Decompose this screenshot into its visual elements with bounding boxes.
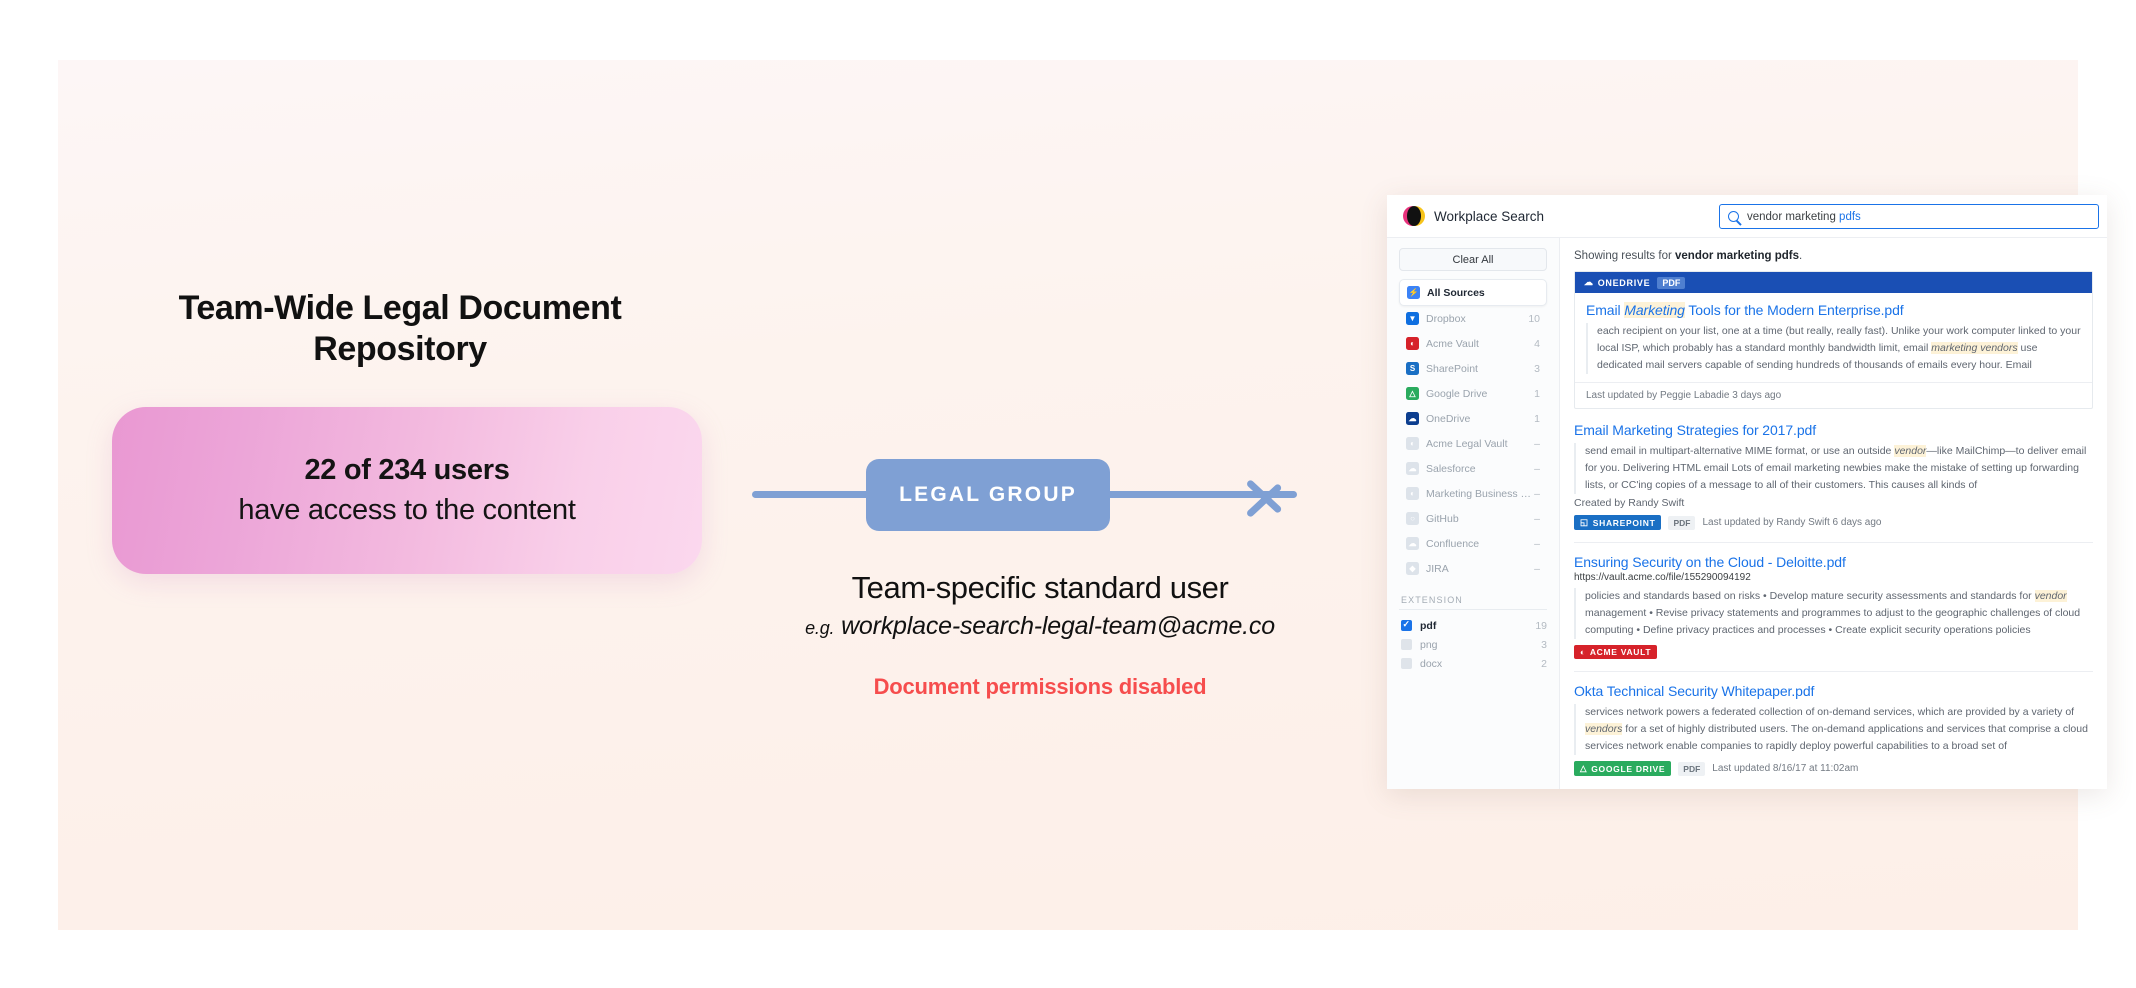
confluence-icon: ☁ bbox=[1406, 537, 1419, 550]
result-item[interactable]: Email Marketing Strategies for 2017.pdfs… bbox=[1574, 422, 2093, 530]
source-filter-list: ⚡All Sources▼Dropbox10◐Acme Vault4SShare… bbox=[1399, 279, 1547, 581]
source-count: – bbox=[1534, 488, 1540, 500]
legal-group-chip: LEGAL GROUP bbox=[866, 459, 1110, 531]
result-snippet: policies and standards based on risks • … bbox=[1574, 588, 2093, 639]
result-url: https://vault.acme.co/file/155290094192 bbox=[1574, 572, 2093, 583]
source-filter-dropbox[interactable]: ▼Dropbox10 bbox=[1399, 306, 1547, 331]
access-count: 22 of 234 users bbox=[304, 454, 509, 487]
result-title[interactable]: Ensuring Security on the Cloud - Deloitt… bbox=[1574, 554, 2093, 570]
showing-results-text: Showing results for vendor marketing pdf… bbox=[1574, 250, 2093, 262]
result-body: Email Marketing Tools for the Modern Ent… bbox=[1575, 293, 2092, 382]
result-source-label: ONEDRIVE bbox=[1598, 278, 1651, 288]
source-count: – bbox=[1534, 438, 1540, 450]
extension-filter-png[interactable]: png3 bbox=[1399, 635, 1547, 654]
source-label: Google Drive bbox=[1426, 388, 1534, 400]
clear-all-button[interactable]: Clear All bbox=[1399, 248, 1547, 271]
source-count: – bbox=[1534, 463, 1540, 475]
source-count: 1 bbox=[1534, 388, 1540, 400]
arrow-head-icon bbox=[1248, 468, 1288, 522]
jira-icon: ◆ bbox=[1406, 562, 1419, 575]
source-count: 1 bbox=[1534, 413, 1540, 425]
acme-legal-vault-icon: ◐ bbox=[1406, 437, 1419, 450]
github-icon: ○ bbox=[1406, 512, 1419, 525]
result-source-bar: ☁ONEDRIVEPDF bbox=[1575, 272, 2092, 293]
source-filter-acme-vault[interactable]: ◐Acme Vault4 bbox=[1399, 331, 1547, 356]
access-stat-card: 22 of 234 users have access to the conte… bbox=[112, 407, 702, 574]
showing-suffix: . bbox=[1799, 250, 1802, 262]
results-pane: Showing results for vendor marketing pdf… bbox=[1560, 238, 2107, 789]
result-divider bbox=[1574, 671, 2093, 672]
sharepoint-icon: S bbox=[1406, 362, 1419, 375]
onedrive-icon: ☁ONEDRIVE bbox=[1584, 277, 1650, 288]
extension-divider bbox=[1399, 609, 1547, 610]
source-count: 10 bbox=[1528, 313, 1540, 325]
result-card-featured[interactable]: ☁ONEDRIVEPDFEmail Marketing Tools for th… bbox=[1574, 271, 2093, 409]
workplace-search-logo-icon bbox=[1403, 206, 1425, 226]
google-drive-icon: △ bbox=[1406, 387, 1419, 400]
source-filter-acme-legal-vault[interactable]: ◐Acme Legal Vault– bbox=[1399, 431, 1547, 456]
example-email: workplace-search-legal-team@acme.co bbox=[841, 612, 1275, 640]
example-prefix: e.g. bbox=[805, 618, 834, 638]
extension-section-header: EXTENSION bbox=[1401, 595, 1547, 605]
permissions-warning: Document permissions disabled bbox=[700, 674, 1380, 700]
search-value-suggestion: pdfs bbox=[1839, 211, 1861, 223]
extension-label: docx bbox=[1420, 658, 1541, 670]
source-filter-sharepoint[interactable]: SSharePoint3 bbox=[1399, 356, 1547, 381]
onedrive-icon: ☁ bbox=[1406, 412, 1419, 425]
result-list: ☁ONEDRIVEPDFEmail Marketing Tools for th… bbox=[1574, 271, 2093, 776]
center-example: e.g. workplace-search-legal-team@acme.co bbox=[700, 612, 1380, 641]
result-snippet: services network powers a federated coll… bbox=[1574, 704, 2093, 755]
salesforce-icon: ☁ bbox=[1406, 462, 1419, 475]
result-divider bbox=[1574, 542, 2093, 543]
snippet-highlight: vendor bbox=[1894, 445, 1926, 457]
source-label: JIRA bbox=[1426, 563, 1534, 575]
result-meta: ◱SHAREPOINTPDFLast updated by Randy Swif… bbox=[1574, 515, 2093, 530]
showing-prefix: Showing results for bbox=[1574, 250, 1675, 262]
center-caption: Team-specific standard user e.g. workpla… bbox=[700, 570, 1380, 700]
source-label: Marketing Business Re... bbox=[1426, 488, 1534, 500]
source-count: – bbox=[1534, 563, 1540, 575]
snippet-highlight: marketing vendors bbox=[1931, 342, 2017, 354]
source-count: – bbox=[1534, 538, 1540, 550]
google-drive-icon: △GOOGLE DRIVE bbox=[1574, 761, 1671, 776]
source-filter-jira[interactable]: ◆JIRA– bbox=[1399, 556, 1547, 581]
source-filter-all-sources[interactable]: ⚡All Sources bbox=[1399, 279, 1547, 306]
result-source-label: ACME VAULT bbox=[1590, 647, 1651, 657]
app-title: Workplace Search bbox=[1434, 209, 1544, 224]
extension-filter-docx[interactable]: docx2 bbox=[1399, 654, 1547, 673]
sharepoint-icon: ◱SHAREPOINT bbox=[1574, 515, 1661, 530]
page-title: Team-Wide Legal Document Repository bbox=[120, 288, 680, 371]
source-filter-onedrive[interactable]: ☁OneDrive1 bbox=[1399, 406, 1547, 431]
result-title[interactable]: Email Marketing Strategies for 2017.pdf bbox=[1574, 422, 2093, 438]
extension-label: png bbox=[1420, 639, 1541, 651]
source-count: 4 bbox=[1534, 338, 1540, 350]
result-item[interactable]: Okta Technical Security Whitepaper.pdfse… bbox=[1574, 683, 2093, 776]
marketing-business-icon: ◐ bbox=[1406, 487, 1419, 500]
search-value-typed: vendor marketing bbox=[1747, 211, 1839, 223]
checkbox-icon[interactable] bbox=[1401, 639, 1412, 650]
result-title[interactable]: Email Marketing Tools for the Modern Ent… bbox=[1586, 302, 2081, 318]
checkbox-icon[interactable] bbox=[1401, 620, 1412, 631]
acme-vault-icon: ◐ bbox=[1406, 337, 1419, 350]
dropbox-icon: ▼ bbox=[1406, 312, 1419, 325]
search-icon bbox=[1728, 211, 1739, 222]
source-label: Acme Vault bbox=[1426, 338, 1534, 350]
app-body: Clear All ⚡All Sources▼Dropbox10◐Acme Va… bbox=[1387, 238, 2107, 789]
source-label: Acme Legal Vault bbox=[1426, 438, 1534, 450]
source-label: OneDrive bbox=[1426, 413, 1534, 425]
result-snippet: send email in multipart-alternative MIME… bbox=[1574, 443, 2093, 494]
extension-filter-pdf[interactable]: pdf19 bbox=[1399, 616, 1547, 635]
result-meta: △GOOGLE DRIVEPDFLast updated 8/16/17 at … bbox=[1574, 761, 2093, 776]
bolt-icon: ⚡ bbox=[1407, 286, 1420, 299]
search-value: vendor marketing pdfs bbox=[1747, 211, 1861, 223]
access-description: have access to the content bbox=[238, 494, 575, 527]
app-header: Workplace Search vendor marketing pdfs bbox=[1387, 195, 2107, 238]
extension-count: 19 bbox=[1535, 620, 1547, 632]
result-created-by: Created by Randy Swift bbox=[1574, 497, 2093, 509]
extension-count: 2 bbox=[1541, 658, 1547, 670]
source-filter-google-drive[interactable]: △Google Drive1 bbox=[1399, 381, 1547, 406]
source-filter-github[interactable]: ○GitHub– bbox=[1399, 506, 1547, 531]
extension-label: pdf bbox=[1420, 620, 1535, 632]
result-item[interactable]: Ensuring Security on the Cloud - Deloitt… bbox=[1574, 554, 2093, 659]
result-snippet: each recipient on your list, one at a ti… bbox=[1586, 323, 2081, 374]
result-source-label: GOOGLE DRIVE bbox=[1591, 764, 1665, 774]
source-label: SharePoint bbox=[1426, 363, 1534, 375]
extension-count: 3 bbox=[1541, 639, 1547, 651]
source-label: Salesforce bbox=[1426, 463, 1534, 475]
result-source-label: SHAREPOINT bbox=[1593, 518, 1656, 528]
acme-vault-icon: ◐ACME VAULT bbox=[1574, 645, 1657, 659]
workplace-search-app-window: Workplace Search vendor marketing pdfs C… bbox=[1387, 195, 2107, 789]
result-meta: ◐ACME VAULT bbox=[1574, 645, 2093, 659]
result-title[interactable]: Okta Technical Security Whitepaper.pdf bbox=[1574, 683, 2093, 699]
extension-filter-list: pdf19png3docx2 bbox=[1399, 616, 1547, 673]
result-type-badge: PDF bbox=[1668, 516, 1695, 530]
result-footer: Last updated by Peggie Labadie 3 days ag… bbox=[1575, 382, 2092, 408]
source-label: GitHub bbox=[1426, 513, 1534, 525]
search-input[interactable]: vendor marketing pdfs bbox=[1719, 204, 2099, 229]
result-type-badge: PDF bbox=[1657, 277, 1685, 289]
snippet-highlight: vendors bbox=[1585, 723, 1622, 735]
result-type-badge: PDF bbox=[1678, 762, 1705, 776]
source-count: 3 bbox=[1534, 363, 1540, 375]
snippet-highlight: vendor bbox=[2035, 590, 2067, 602]
showing-query: vendor marketing pdfs bbox=[1675, 250, 1799, 262]
source-count: – bbox=[1534, 513, 1540, 525]
source-label: Dropbox bbox=[1426, 313, 1528, 325]
source-label: Confluence bbox=[1426, 538, 1534, 550]
source-filter-marketing-business-re[interactable]: ◐Marketing Business Re...– bbox=[1399, 481, 1547, 506]
center-subtitle: Team-specific standard user bbox=[700, 570, 1380, 606]
result-title-highlight: Marketing bbox=[1624, 302, 1685, 318]
checkbox-icon[interactable] bbox=[1401, 658, 1412, 669]
source-filter-confluence[interactable]: ☁Confluence– bbox=[1399, 531, 1547, 556]
result-updated-text: Last updated by Randy Swift 6 days ago bbox=[1702, 517, 1881, 528]
filters-sidebar: Clear All ⚡All Sources▼Dropbox10◐Acme Va… bbox=[1387, 238, 1560, 789]
source-filter-salesforce[interactable]: ☁Salesforce– bbox=[1399, 456, 1547, 481]
result-updated-text: Last updated 8/16/17 at 11:02am bbox=[1712, 763, 1858, 774]
source-label: All Sources bbox=[1427, 287, 1539, 299]
